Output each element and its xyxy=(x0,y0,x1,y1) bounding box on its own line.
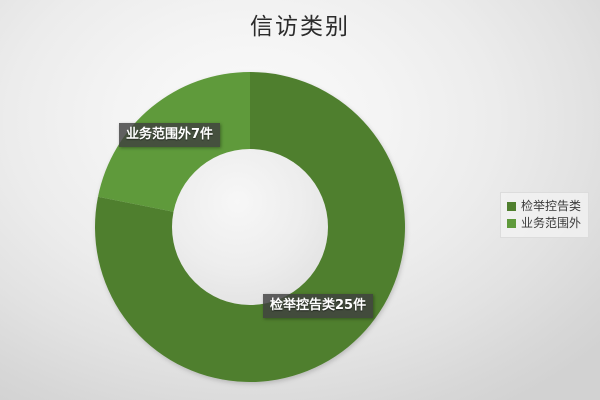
data-label-out-of-scope: 业务范围外7件 xyxy=(119,123,220,147)
legend-item-out-of-scope[interactable]: 业务范围外 xyxy=(507,215,581,232)
legend: 检举控告类 业务范围外 xyxy=(500,192,589,238)
legend-label-out-of-scope: 业务范围外 xyxy=(521,215,581,232)
donut-hole xyxy=(172,149,328,305)
legend-swatch-icon xyxy=(507,202,516,211)
data-label-report-accuse: 检举控告类25件 xyxy=(263,294,373,318)
legend-swatch-icon xyxy=(507,219,516,228)
donut-chart-container: 信访类别 业务范围外7件 检举控告 xyxy=(0,0,600,400)
legend-item-report-accuse[interactable]: 检举控告类 xyxy=(507,198,581,215)
legend-label-report-accuse: 检举控告类 xyxy=(521,198,581,215)
